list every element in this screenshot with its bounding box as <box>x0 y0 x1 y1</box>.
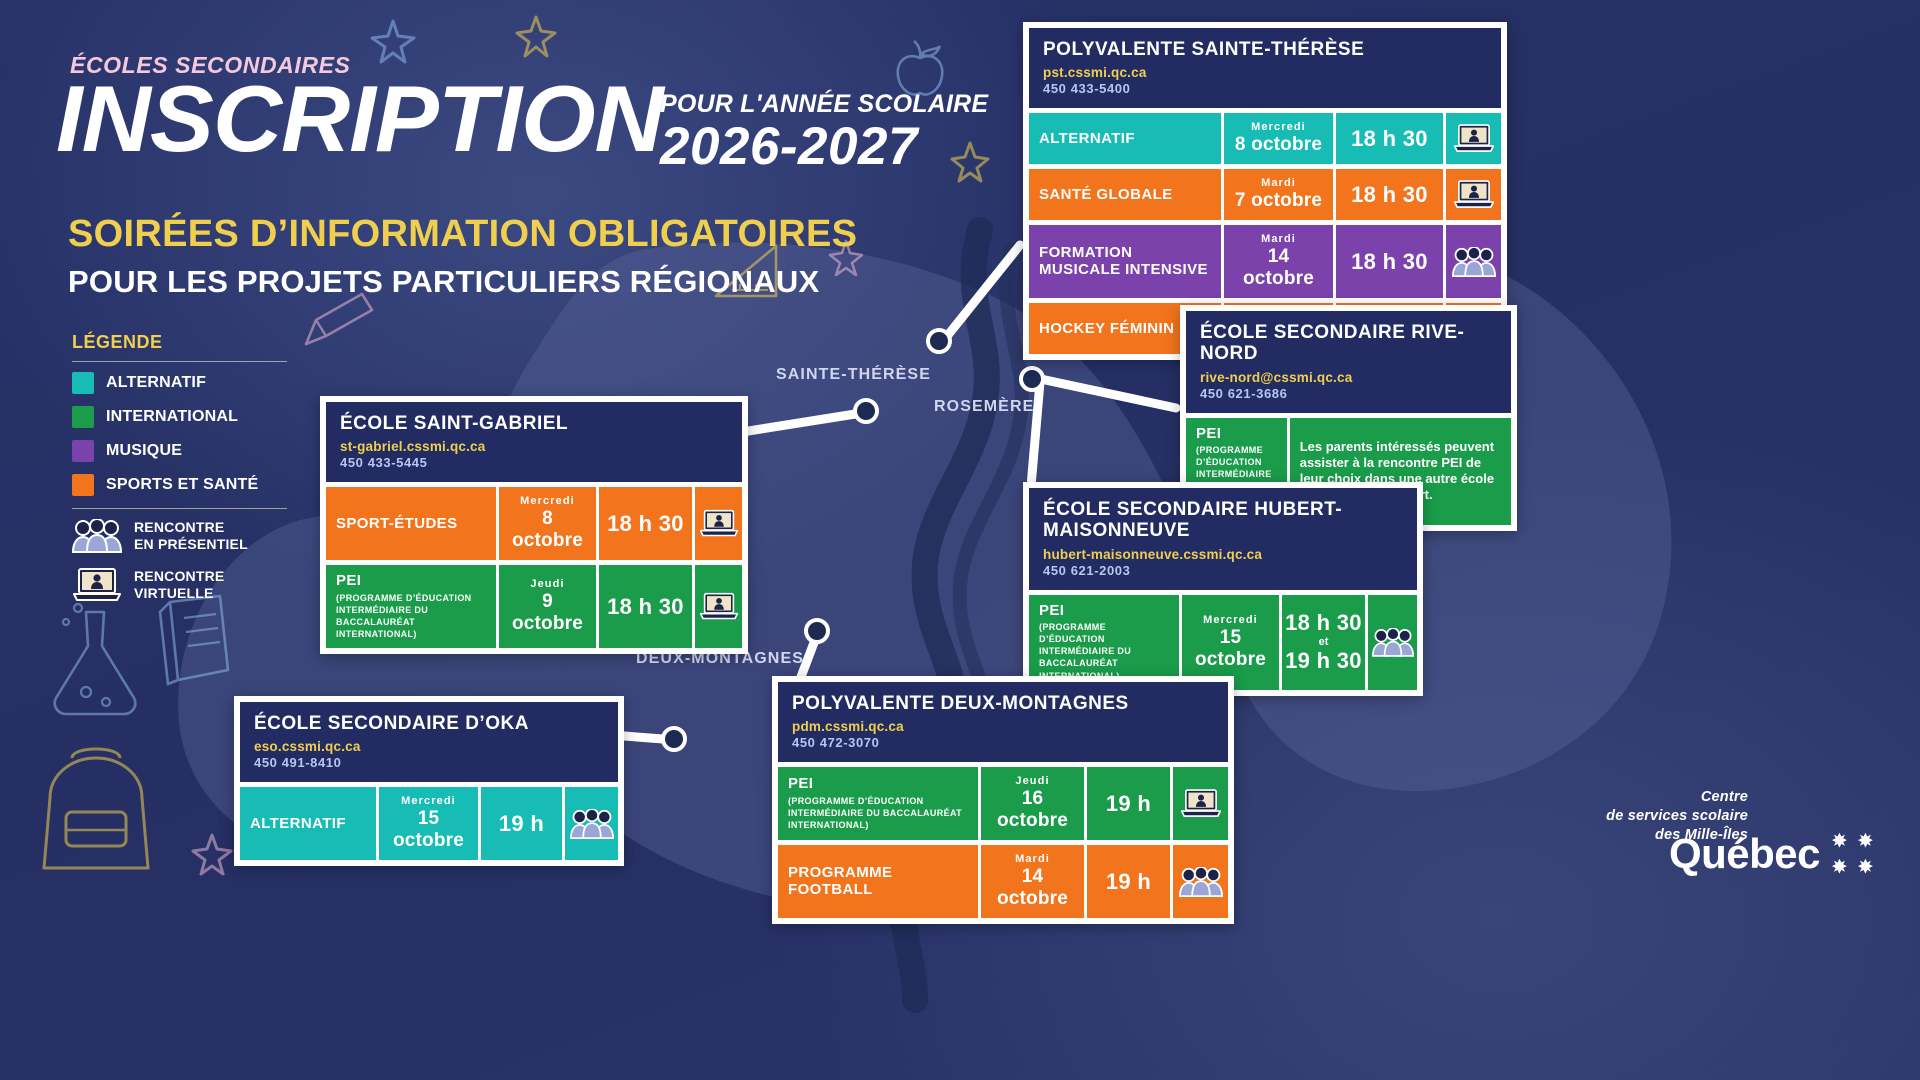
legend-divider-top <box>72 361 287 362</box>
row-mode-cell <box>1170 767 1228 840</box>
time-value: 19 h <box>499 811 544 837</box>
row-date-cell: Mercredi 15 octobre <box>376 787 478 860</box>
table-row: ALTERNATIF Mercredi 15 octobre 19 h <box>240 787 618 860</box>
program-subtitle: (PROGRAMME D’ÉDUCATION INTERMÉDIAIRE DU … <box>788 795 968 831</box>
card-title-hubert: ÉCOLE SECONDAIRE HUBERT-MAISONNEUVE <box>1043 499 1403 542</box>
card-header-rive-nord: ÉCOLE SECONDAIRE RIVE-NORD rive-nord@css… <box>1186 311 1511 413</box>
program-name: ALTERNATIF <box>1039 131 1211 148</box>
row-time-cell: 18 h 30 <box>1333 225 1443 298</box>
card-rows-pdm: PEI (PROGRAMME D’ÉDUCATION INTERMÉDIAIRE… <box>778 767 1228 918</box>
card-phone-st-gabriel[interactable]: 450 433-5445 <box>340 455 728 470</box>
row-time-cell: 19 h <box>1084 845 1170 918</box>
date-weekday: Mercredi <box>1251 121 1306 133</box>
card-header-pdm: POLYVALENTE DEUX-MONTAGNES pdm.cssmi.qc.… <box>778 682 1228 762</box>
program-name: PEI <box>336 573 486 590</box>
map-pin-oka[interactable] <box>661 726 687 752</box>
cssmi-line1: Centre <box>1701 789 1748 805</box>
legend-item-alternatif: ALTERNATIF <box>72 372 287 394</box>
row-mode-cell <box>1365 595 1417 690</box>
date-day-month: 7 octobre <box>1235 190 1322 212</box>
city-label-sainte-therese: SAINTE-THÉRÈSE <box>776 366 931 384</box>
card-header-hubert: ÉCOLE SECONDAIRE HUBERT-MAISONNEUVE hube… <box>1029 488 1417 590</box>
backpack-doodle <box>20 740 170 890</box>
date-day-month: 14 octobre <box>991 866 1074 910</box>
date-weekday: Mardi <box>1015 853 1050 865</box>
table-row: SPORT-ÉTUDES Mercredi 8 octobre 18 h 30 <box>326 487 742 560</box>
people-group-icon <box>570 809 614 839</box>
program-subtitle: (PROGRAMME D’ÉDUCATION INTERMÉDIAIRE DU … <box>336 592 486 641</box>
people-group-icon <box>72 519 122 553</box>
row-time-cell: 19 h <box>1084 767 1170 840</box>
school-year-label: POUR L'ANNÉE SCOLAIRE <box>660 92 988 117</box>
date-day-month: 8 octobre <box>509 508 586 552</box>
date-weekday: Jeudi <box>1015 775 1049 787</box>
program-subtitle: (PROGRAMME D’ÉDUCATION INTERMÉDIAIRE DU … <box>1039 621 1169 682</box>
city-label-rosemere: ROSEMÈRE <box>934 398 1034 416</box>
time-value: 18 h 30 <box>1351 182 1428 208</box>
card-title-oka: ÉCOLE SECONDAIRE D’OKA <box>254 713 604 734</box>
legend-title: LÉGENDE <box>72 332 287 353</box>
card-polyvalente-deux-montagnes[interactable]: POLYVALENTE DEUX-MONTAGNES pdm.cssmi.qc.… <box>772 676 1234 924</box>
time-value: 18 h 30 <box>1351 126 1428 152</box>
program-name: FORMATION MUSICALE INTENSIVE <box>1039 245 1211 278</box>
card-rows-oka: ALTERNATIF Mercredi 15 octobre 19 h <box>240 787 618 860</box>
time-value: 18 h 30 <box>607 511 684 537</box>
legend: LÉGENDE ALTERNATIF INTERNATIONAL MUSIQUE… <box>72 332 287 617</box>
table-row: PROGRAMME FOOTBALL Mardi 14 octobre 19 h <box>778 845 1228 918</box>
row-program-cell: ALTERNATIF <box>240 787 376 860</box>
quebec-wordmark: Québec <box>1669 830 1820 878</box>
legend-label-sports-sante: SPORTS ET SANTÉ <box>106 476 258 494</box>
date-day-month: 15 octobre <box>389 808 468 852</box>
legend-swatch-international <box>72 406 94 428</box>
card-url-st-gabriel[interactable]: st-gabriel.cssmi.qc.ca <box>340 439 728 454</box>
date-weekday: Mardi <box>1261 177 1296 189</box>
row-mode-cell <box>562 787 618 860</box>
date-weekday: Mercredi <box>520 495 575 507</box>
card-phone-rive-nord[interactable]: 450 621-3686 <box>1200 386 1497 401</box>
table-row: PEI (PROGRAMME D’ÉDUCATION INTERMÉDIAIRE… <box>778 767 1228 840</box>
legend-presentiel-line1: RENCONTRE <box>134 519 224 535</box>
flask-doodle <box>42 600 150 720</box>
quebec-flag-icon <box>1830 828 1882 880</box>
date-day-month: 15 octobre <box>1192 627 1269 671</box>
legend-item-sports-sante: SPORTS ET SANTÉ <box>72 474 287 496</box>
legend-label-international: INTERNATIONAL <box>106 408 238 426</box>
star-doodle-blue <box>370 18 416 64</box>
card-url-pst[interactable]: pst.cssmi.qc.ca <box>1043 65 1487 80</box>
school-year-block: POUR L'ANNÉE SCOLAIRE 2026-2027 <box>660 92 988 175</box>
school-year-value: 2026-2027 <box>660 119 988 175</box>
card-phone-pdm[interactable]: 450 472-3070 <box>792 735 1214 750</box>
legend-swatch-alternatif <box>72 372 94 394</box>
map-pin-rosemere[interactable] <box>1019 366 1045 392</box>
legend-virtuelle-line1: RENCONTRE <box>134 568 224 584</box>
program-name: SANTÉ GLOBALE <box>1039 187 1211 204</box>
row-date-cell: Mardi 14 octobre <box>978 845 1084 918</box>
legend-divider-mid <box>72 508 287 509</box>
row-program-cell: SPORT-ÉTUDES <box>326 487 496 560</box>
row-mode-cell <box>1443 169 1501 220</box>
row-program-cell: PROGRAMME FOOTBALL <box>778 845 978 918</box>
card-header-st-gabriel: ÉCOLE SAINT-GABRIEL st-gabriel.cssmi.qc.… <box>326 402 742 482</box>
row-mode-cell <box>1443 225 1501 298</box>
people-group-icon <box>1372 628 1414 657</box>
date-weekday: Mercredi <box>1203 614 1258 626</box>
legend-label-alternatif: ALTERNATIF <box>106 374 206 392</box>
table-row: PEI (PROGRAMME D’ÉDUCATION INTERMÉDIAIRE… <box>326 565 742 648</box>
row-date-cell: Jeudi 16 octobre <box>978 767 1084 840</box>
date-weekday: Mardi <box>1261 233 1296 245</box>
legend-swatch-sports-sante <box>72 474 94 496</box>
row-time-cell: 18 h 30 <box>1333 169 1443 220</box>
table-row: FORMATION MUSICALE INTENSIVE Mardi 14 oc… <box>1029 225 1501 298</box>
card-url-oka[interactable]: eso.cssmi.qc.ca <box>254 739 604 754</box>
row-program-cell: FORMATION MUSICALE INTENSIVE <box>1029 225 1221 298</box>
legend-presentiel-line2: EN PRÉSENTIEL <box>134 536 248 552</box>
card-title-pdm: POLYVALENTE DEUX-MONTAGNES <box>792 693 1214 714</box>
program-name: PEI <box>1196 426 1277 443</box>
program-name: ALTERNATIF <box>250 816 366 833</box>
map-pin-hubert-maisonneuve[interactable] <box>804 618 830 644</box>
quebec-logo: Québec <box>1669 828 1882 880</box>
card-url-hubert[interactable]: hubert-maisonneuve.cssmi.qc.ca <box>1043 547 1403 562</box>
time-separator: et <box>1319 636 1329 648</box>
time-value: 18 h 30 <box>1351 249 1428 275</box>
time-value-second: 19 h 30 <box>1285 648 1362 674</box>
legend-label-musique: MUSIQUE <box>106 442 182 460</box>
row-program-cell: PEI (PROGRAMME D’ÉDUCATION INTERMÉDIAIRE… <box>778 767 978 840</box>
row-mode-cell <box>1443 113 1501 164</box>
table-row: ALTERNATIF Mercredi 8 octobre 18 h 30 <box>1029 113 1501 164</box>
subtitle: SOIRÉES D’INFORMATION OBLIGATOIRES <box>68 213 857 256</box>
program-name: PEI <box>1039 603 1169 620</box>
row-time-cell: 19 h <box>478 787 562 860</box>
date-day-month: 16 octobre <box>991 788 1074 832</box>
legend-item-presentiel: RENCONTRE EN PRÉSENTIEL <box>72 519 287 553</box>
card-ecole-secondaire-oka[interactable]: ÉCOLE SECONDAIRE D’OKA eso.cssmi.qc.ca 4… <box>234 696 624 866</box>
row-program-cell: SANTÉ GLOBALE <box>1029 169 1221 220</box>
card-url-rive-nord[interactable]: rive-nord@cssmi.qc.ca <box>1200 370 1497 385</box>
card-ecole-secondaire-hubert-maisonneuve[interactable]: ÉCOLE SECONDAIRE HUBERT-MAISONNEUVE hube… <box>1023 482 1423 696</box>
laptop-person-icon <box>1180 788 1222 819</box>
program-name: PEI <box>788 776 968 793</box>
row-time-cell: 18 h 30 <box>596 565 692 648</box>
date-weekday: Mercredi <box>401 795 456 807</box>
map-pin-sainte-therese[interactable] <box>926 328 952 354</box>
date-day-month: 8 octobre <box>1235 134 1322 156</box>
card-rows-st-gabriel: SPORT-ÉTUDES Mercredi 8 octobre 18 h 30 <box>326 487 742 648</box>
row-program-cell: PEI (PROGRAMME D’ÉDUCATION INTERMÉDIAIRE… <box>326 565 496 648</box>
card-phone-pst[interactable]: 450 433-5400 <box>1043 81 1487 96</box>
cssmi-line2: de services scolaire <box>1606 808 1748 824</box>
row-date-cell: Mercredi 8 octobre <box>496 487 596 560</box>
date-day-month: 14 octobre <box>1234 246 1323 290</box>
row-time-cell: 18 h 30 <box>596 487 692 560</box>
card-ecole-saint-gabriel[interactable]: ÉCOLE SAINT-GABRIEL st-gabriel.cssmi.qc.… <box>320 396 748 654</box>
time-value: 18 h 30 <box>607 594 684 620</box>
card-phone-oka[interactable]: 450 491-8410 <box>254 755 604 770</box>
star-doodle-yellow <box>515 14 557 58</box>
date-weekday: Jeudi <box>530 578 564 590</box>
row-date-cell: Mercredi 8 octobre <box>1221 113 1333 164</box>
row-date-cell: Jeudi 9 octobre <box>496 565 596 648</box>
row-time-cell: 18 h 30 et 19 h 30 <box>1279 595 1365 690</box>
page-title: INSCRIPTION <box>56 72 663 166</box>
row-time-cell: 18 h 30 <box>1333 113 1443 164</box>
time-value: 18 h 30 <box>1285 610 1362 636</box>
legend-label-presentiel: RENCONTRE EN PRÉSENTIEL <box>134 519 248 553</box>
map-pin-saint-gabriel[interactable] <box>853 398 879 424</box>
card-header-pst: POLYVALENTE SAINTE-THÉRÈSE pst.cssmi.qc.… <box>1029 28 1501 108</box>
people-group-icon <box>1452 247 1496 277</box>
card-title-st-gabriel: ÉCOLE SAINT-GABRIEL <box>340 413 728 434</box>
row-mode-cell <box>692 487 742 560</box>
legend-swatch-musique <box>72 440 94 462</box>
card-url-pdm[interactable]: pdm.cssmi.qc.ca <box>792 719 1214 734</box>
date-day-month: 9 octobre <box>509 591 586 635</box>
legend-item-international: INTERNATIONAL <box>72 406 287 428</box>
card-phone-hubert[interactable]: 450 621-2003 <box>1043 563 1403 578</box>
legend-label-virtuelle: RENCONTRE VIRTUELLE <box>134 568 224 602</box>
laptop-person-icon <box>1453 123 1495 154</box>
table-row: SANTÉ GLOBALE Mardi 7 octobre 18 h 30 <box>1029 169 1501 220</box>
laptop-person-icon <box>699 509 739 538</box>
row-mode-cell <box>1170 845 1228 918</box>
star-doodle-pink-2 <box>190 832 234 878</box>
legend-item-virtuelle: RENCONTRE VIRTUELLE <box>72 567 287 603</box>
people-group-icon <box>1179 867 1223 897</box>
time-value: 19 h <box>1106 791 1151 817</box>
program-name: PROGRAMME FOOTBALL <box>788 865 968 898</box>
row-date-cell: Mardi 7 octobre <box>1221 169 1333 220</box>
card-header-oka: ÉCOLE SECONDAIRE D’OKA eso.cssmi.qc.ca 4… <box>240 702 618 782</box>
subtitle-secondary: POUR LES PROJETS PARTICULIERS RÉGIONAUX <box>68 264 819 300</box>
card-title-pst: POLYVALENTE SAINTE-THÉRÈSE <box>1043 39 1487 60</box>
legend-item-musique: MUSIQUE <box>72 440 287 462</box>
program-name: SPORT-ÉTUDES <box>336 516 486 533</box>
laptop-person-icon <box>1453 179 1495 210</box>
legend-virtuelle-line2: VIRTUELLE <box>134 585 214 601</box>
row-program-cell: ALTERNATIF <box>1029 113 1221 164</box>
card-title-rive-nord: ÉCOLE SECONDAIRE RIVE-NORD <box>1200 322 1497 365</box>
row-mode-cell <box>692 565 742 648</box>
time-value: 19 h <box>1106 869 1151 895</box>
row-date-cell: Mardi 14 octobre <box>1221 225 1333 298</box>
laptop-person-icon <box>72 567 122 603</box>
poster-background: ÉCOLES SECONDAIRES INSCRIPTION POUR L'AN… <box>0 0 1920 1080</box>
laptop-person-icon <box>699 592 739 621</box>
